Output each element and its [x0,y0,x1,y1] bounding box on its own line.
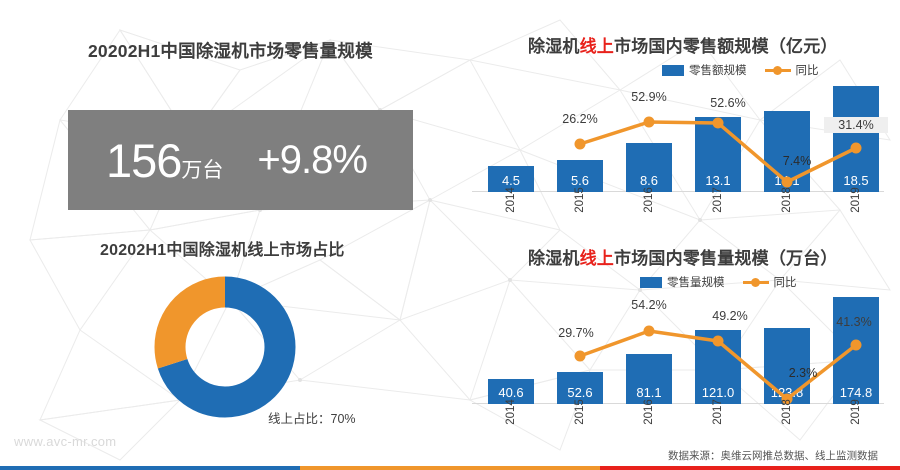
title-part-accent: 线上 [580,249,614,268]
legend-line-label: 同比 [796,62,819,78]
headline-value-unit: 万台 [181,159,223,182]
yoy-point-2016[interactable] [644,117,655,128]
title-part-pre: 除湿机 [528,249,580,268]
retail-value-legend: 零售额规模 同比 [662,62,819,78]
legend-item-line[interactable]: 同比 [765,62,819,78]
xtick-2015: 2015 [557,194,603,206]
headline-title: 20202H1中国除湿机市场零售量规模 [88,38,373,63]
donut-chart-svg [150,272,300,422]
legend-item-bar[interactable]: 零售量规模 [640,274,725,290]
legend-bar-swatch-icon [662,65,684,76]
xtick-label-2017: 2017 [712,187,724,213]
xtick-label-2018: 2018 [781,399,793,425]
xtick-label-2014: 2014 [505,399,517,425]
yoy-line-markers [575,117,862,188]
xtick-2016: 2016 [626,406,672,418]
xtick-label-2015: 2015 [574,399,586,425]
donut-caption: 线上占比：70% [268,408,356,427]
xtick-label-2015: 2015 [574,187,586,213]
xtick-label-2017: 2017 [712,399,724,425]
retail-volume-plot: 40.6 52.6 81.1 121.0 123.8 174.8 [472,294,884,404]
donut-title: 20202H1中国除湿机线上市场占比 [100,236,345,260]
xtick-2019: 2019 [833,194,879,206]
xtick-label-2016: 2016 [643,187,655,213]
strip-segment-blue [0,466,300,470]
yoy-label-2019: 41.3% [824,315,884,329]
yoy-point-2018[interactable] [782,177,793,188]
legend-bar-swatch-icon [640,277,662,288]
yoy-label-2019: 31.4% [824,117,888,133]
yoy-point-2015[interactable] [575,351,586,362]
strip-segment-red [600,466,900,470]
retail-volume-xaxis: 2014 2015 2016 2017 2018 2019 [472,406,884,436]
retail-value-chart-title: 除湿机线上市场国内零售额规模（亿元） [528,32,838,57]
xtick-label-2019: 2019 [850,187,862,213]
xtick-2015: 2015 [557,406,603,418]
slide-canvas: 20202H1中国除湿机市场零售量规模 156万台 +9.8% 20202H1中… [0,0,900,470]
legend-line-marker-icon [743,277,769,288]
retail-value-plot: 4.5 5.6 8.6 13.1 14.1 18.5 [472,82,884,192]
yoy-line-markers [575,326,862,405]
xtick-label-2014: 2014 [505,187,517,213]
xtick-2018: 2018 [764,194,810,206]
headline-value-box: 156万台 +9.8% [68,110,413,210]
yoy-point-2017[interactable] [713,336,724,347]
title-part-post: 市场国内零售量规模（万台） [614,249,838,268]
yoy-label-2016: 54.2% [617,298,681,312]
legend-line-label: 同比 [774,274,797,290]
xtick-label-2016: 2016 [643,399,655,425]
yoy-label-2018: 7.4% [770,154,824,168]
xtick-2019: 2019 [833,406,879,418]
retail-volume-legend: 零售量规模 同比 [640,274,797,290]
yoy-point-2016[interactable] [644,326,655,337]
xtick-2017: 2017 [695,194,741,206]
xtick-2014: 2014 [488,194,534,206]
retail-value-chart-panel: 除湿机线上市场国内零售额规模（亿元） 零售额规模 同比 4.5 5.6 8.6 [450,14,900,226]
legend-bar-label: 零售量规模 [667,274,725,290]
bottom-color-strip [0,466,900,470]
yoy-label-2018: 2.3% [778,366,828,380]
title-part-pre: 除湿机 [528,37,580,56]
yoy-point-2015[interactable] [575,139,586,150]
legend-line-marker-icon [765,65,791,76]
headline-panel: 20202H1中国除湿机市场零售量规模 156万台 +9.8% [0,14,450,224]
site-watermark: www.avc-mr.com [14,434,116,449]
xtick-label-2018: 2018 [781,187,793,213]
yoy-label-2015: 26.2% [548,112,612,126]
headline-value-number: 156 [106,134,181,187]
yoy-label-2017: 49.2% [698,309,762,323]
strip-segment-orange [300,466,600,470]
headline-value: 156万台 [106,137,223,184]
title-part-accent: 线上 [580,37,614,56]
yoy-label-2015: 29.7% [544,326,608,340]
legend-item-bar[interactable]: 零售额规模 [662,62,747,78]
xtick-2014: 2014 [488,406,534,418]
yoy-line-path [580,122,856,182]
xtick-label-2019: 2019 [850,399,862,425]
retail-value-xaxis: 2014 2015 2016 2017 2018 2019 [472,194,884,224]
yoy-point-2019[interactable] [851,340,862,351]
yoy-point-2017[interactable] [713,118,724,129]
retail-volume-chart-panel: 除湿机线上市场国内零售量规模（万台） 零售量规模 同比 40.6 52.6 81… [450,226,900,438]
xtick-2017: 2017 [695,406,741,418]
donut-chart [150,272,300,422]
title-part-post: 市场国内零售额规模（亿元） [614,37,838,56]
legend-bar-label: 零售额规模 [689,62,747,78]
yoy-label-2016: 52.9% [617,90,681,104]
yoy-point-2019[interactable] [851,143,862,154]
yoy-label-2017: 52.6% [696,96,760,110]
headline-growth: +9.8% [257,140,367,180]
data-source-note: 数据来源：奥维云网推总数据、线上监测数据 [668,448,878,463]
online-share-panel: 20202H1中国除湿机线上市场占比 线上占比：70% [0,228,450,438]
retail-volume-chart-title: 除湿机线上市场国内零售量规模（万台） [528,244,838,269]
xtick-2016: 2016 [626,194,672,206]
xtick-2018: 2018 [764,406,810,418]
legend-item-line[interactable]: 同比 [743,274,797,290]
